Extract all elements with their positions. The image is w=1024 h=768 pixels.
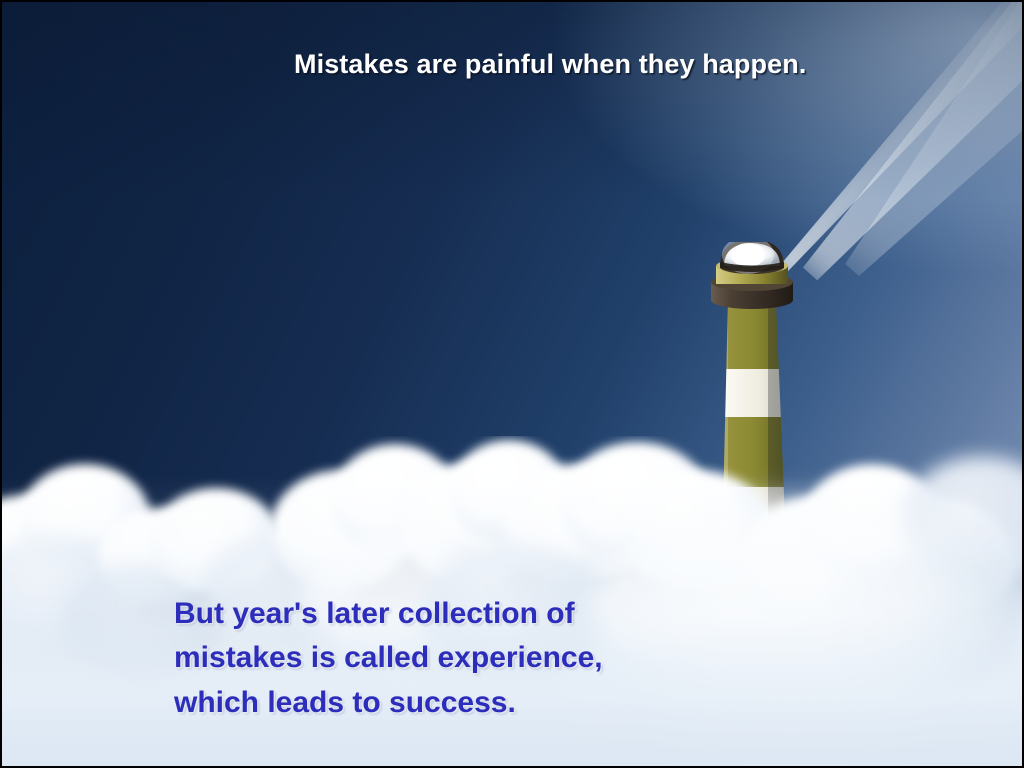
subtext-block: But year's later collection of mistakes … [174,592,603,725]
quote-slide: Mistakes are painful when they happen. B… [0,0,1024,768]
subtext-line-1: But year's later collection of [174,592,603,636]
headline-text: Mistakes are painful when they happen. [294,49,806,80]
subtext-line-3: which leads to success. [174,681,603,725]
subtext-line-2: mistakes is called experience, [174,636,603,680]
